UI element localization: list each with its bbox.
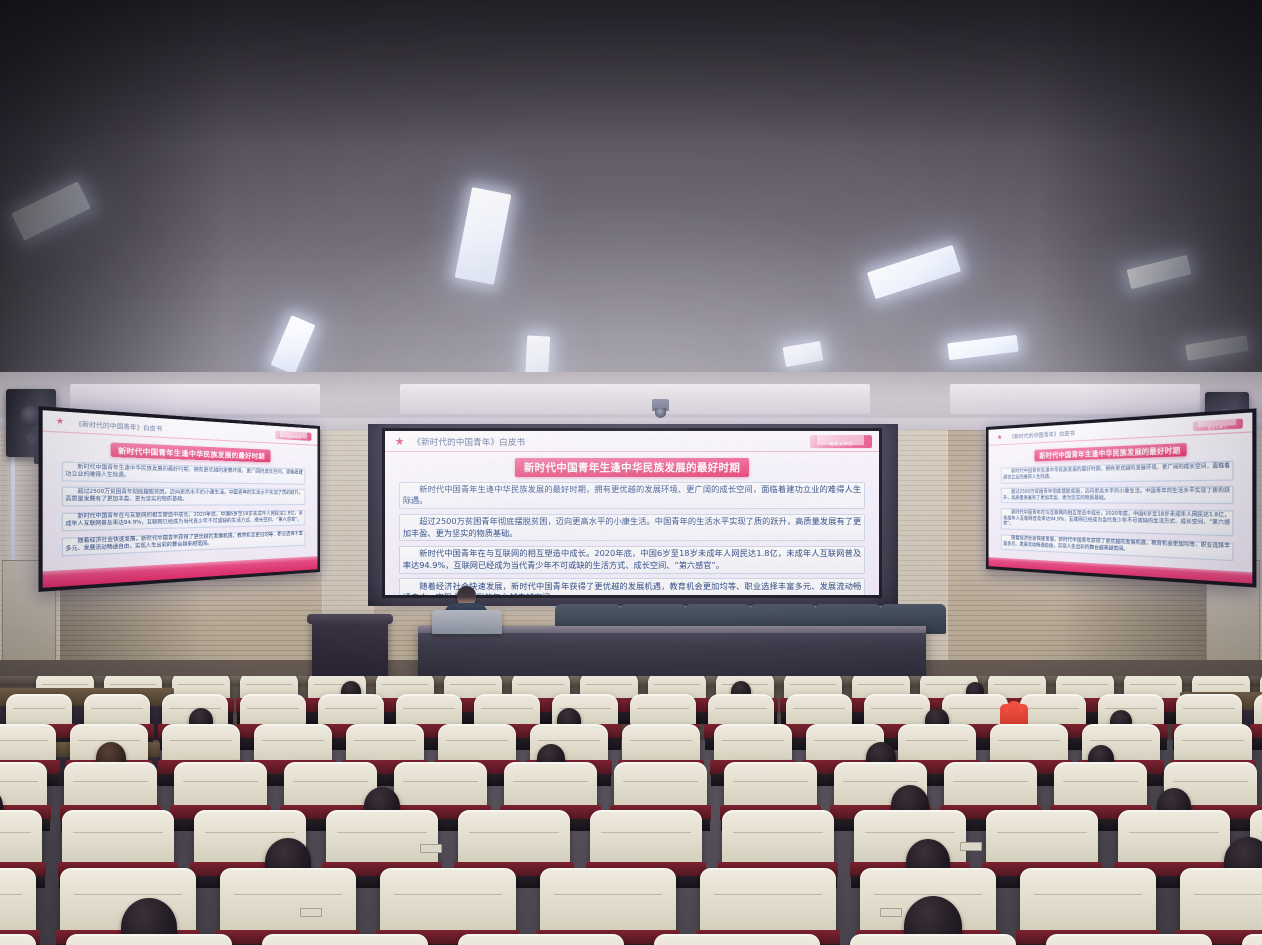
dome-camera-icon bbox=[652, 399, 669, 411]
audience-seating bbox=[0, 676, 1262, 945]
audience-seat[interactable] bbox=[590, 810, 702, 866]
soffit-recess-left bbox=[70, 384, 320, 414]
ceiling-panel-light bbox=[947, 335, 1019, 360]
slide-header-badge: 青年大学习 bbox=[1193, 418, 1243, 431]
audience-seat[interactable] bbox=[540, 868, 676, 934]
audience-seat[interactable] bbox=[614, 762, 707, 809]
speaker-tweeter-icon bbox=[26, 433, 37, 444]
soffit-recess-right bbox=[950, 384, 1200, 414]
ceiling-shading bbox=[0, 0, 1262, 430]
seat-number-plate bbox=[960, 842, 982, 851]
slide-header-badge: 青年大学习 bbox=[810, 435, 872, 448]
audience-seat[interactable] bbox=[346, 724, 424, 764]
audience-seat[interactable] bbox=[1176, 694, 1242, 728]
audience-seat[interactable] bbox=[622, 724, 700, 764]
screen-bezel: ★ 《新时代的中国青年》白皮书 青年大学习 新时代中国青年生逢中华民族发展的最好… bbox=[986, 408, 1256, 587]
audience-seat[interactable] bbox=[722, 810, 834, 866]
audience-seat[interactable] bbox=[458, 934, 624, 945]
ceiling-panel-light bbox=[1127, 255, 1192, 289]
audience-seat[interactable] bbox=[942, 694, 1008, 728]
audience-seat[interactable] bbox=[84, 694, 150, 728]
audience-seat[interactable] bbox=[714, 724, 792, 764]
slide-body: 新时代中国青年生逢中华民族发展的最好时期，拥有更优越的发展环境、更广阔的成长空间… bbox=[989, 461, 1253, 573]
lectern-top bbox=[307, 614, 393, 624]
audience-seat[interactable] bbox=[162, 724, 240, 764]
laptop bbox=[432, 610, 502, 634]
slide-paragraph: 超过2500万贫困青年彻底摆脱贫困，迈向更高水平的小康生活。中国青年的生活水平实… bbox=[62, 487, 305, 507]
audience-seat[interactable] bbox=[0, 934, 36, 945]
slide-header: ★ 《新时代的中国青年》白皮书 青年大学习 bbox=[385, 431, 879, 452]
seat-number-plate bbox=[880, 908, 902, 917]
audience-seat[interactable] bbox=[0, 724, 56, 764]
audience-seat[interactable] bbox=[1020, 868, 1156, 934]
audience-seat[interactable] bbox=[786, 694, 852, 728]
audience-seat[interactable] bbox=[1054, 762, 1147, 809]
audience-seat[interactable] bbox=[262, 934, 428, 945]
slide-title: 新时代中国青年生逢中华民族发展的最好时期 bbox=[515, 458, 749, 476]
presiding-table bbox=[418, 626, 926, 680]
slide-content: ★ 《新时代的中国青年》白皮书 青年大学习 新时代中国青年生逢中华民族发展的最好… bbox=[385, 431, 879, 595]
ceiling-panel-light bbox=[11, 181, 91, 240]
seat-number-plate bbox=[300, 908, 322, 917]
badge-label: 青年大学习 bbox=[287, 437, 301, 441]
left-projection-screen[interactable]: ★ 《新时代的中国青年》白皮书 青年大学习 新时代中国青年生逢中华民族发展的最好… bbox=[39, 406, 320, 592]
slide-header-badge: 青年大学习 bbox=[275, 431, 311, 441]
slide-title: 新时代中国青年生逢中华民族发展的最好时期 bbox=[1034, 444, 1187, 462]
audience-seat[interactable] bbox=[62, 810, 174, 866]
audience-seat[interactable] bbox=[0, 762, 47, 809]
audience-seat[interactable] bbox=[438, 724, 516, 764]
slide-content: ★ 《新时代的中国青年》白皮书 青年大学习 新时代中国青年生逢中华民族发展的最好… bbox=[43, 410, 318, 588]
audience-seat[interactable] bbox=[654, 934, 820, 945]
audience-seat[interactable] bbox=[1118, 810, 1230, 866]
audience-seat[interactable] bbox=[66, 934, 232, 945]
party-emblem-icon: ★ bbox=[997, 434, 1002, 441]
lectern[interactable] bbox=[312, 614, 388, 676]
audience-seat[interactable] bbox=[6, 694, 72, 728]
ceiling-panel-light bbox=[455, 187, 512, 285]
slide-paragraph: 随着经济社会快速发展，新时代中国青年获得了更优越的发展机遇，教育机会更加均等、职… bbox=[62, 530, 305, 557]
slide-title-row: 新时代中国青年生逢中华民族发展的最好时期 bbox=[385, 452, 879, 481]
audience-seat[interactable] bbox=[254, 724, 332, 764]
audience-seat[interactable] bbox=[944, 762, 1037, 809]
audience-seat[interactable] bbox=[284, 762, 377, 809]
seat-base bbox=[1251, 738, 1262, 750]
screen-bezel: ★ 《新时代的中国青年》白皮书 青年大学习 新时代中国青年生逢中华民族发展的最好… bbox=[382, 428, 882, 598]
audience-seat[interactable] bbox=[1020, 694, 1086, 728]
slide-title: 新时代中国青年生逢中华民族发展的最好时期 bbox=[111, 443, 270, 463]
slide-body: 新时代中国青年生逢中华民族发展的最好时期，拥有更优越的发展环境、更广阔的成长空间… bbox=[385, 482, 879, 595]
right-projection-screen[interactable]: ★ 《新时代的中国青年》白皮书 青年大学习 新时代中国青年生逢中华民族发展的最好… bbox=[986, 408, 1256, 587]
slide-body: 新时代中国青年生逢中华民族发展的最好时期，拥有更优越的发展环境、更广阔的成长空间… bbox=[43, 461, 318, 572]
audience-seat[interactable] bbox=[986, 810, 1098, 866]
soffit-recess-center bbox=[400, 384, 870, 414]
audience-seat[interactable] bbox=[850, 934, 1016, 945]
main-projection-screen[interactable]: ★ 《新时代的中国青年》白皮书 青年大学习 新时代中国青年生逢中华民族发展的最好… bbox=[382, 428, 882, 598]
slide-paragraph: 新时代中国青年生逢中华民族发展的最好时期，拥有更优越的发展环境、更广阔的成长空间… bbox=[399, 482, 864, 510]
audience-seat[interactable] bbox=[630, 694, 696, 728]
audience-seat[interactable] bbox=[898, 724, 976, 764]
ceiling-panel-light bbox=[270, 315, 315, 375]
audience-seat[interactable] bbox=[0, 810, 42, 866]
screen-bezel: ★ 《新时代的中国青年》白皮书 青年大学习 新时代中国青年生逢中华民族发展的最好… bbox=[39, 406, 320, 592]
audience-seat[interactable] bbox=[318, 694, 384, 728]
audience-seat[interactable] bbox=[380, 868, 516, 934]
slide-paragraph: 新时代中国青年在与互联网的相互塑造中成长。2020年底，中国6岁至18岁未成年人… bbox=[399, 546, 864, 574]
audience-seat[interactable] bbox=[1180, 868, 1262, 934]
slatted-ceiling bbox=[0, 0, 1262, 430]
audience-seat[interactable] bbox=[326, 810, 438, 866]
slide-paragraph: 随着经济社会快速发展，新时代中国青年获得了更优越的发展机遇，教育机会更加均等、职… bbox=[1001, 534, 1233, 561]
slide-paragraph: 新时代中国青年在与互联网的相互塑造中成长。2020年底，中国6岁至18岁未成年人… bbox=[1001, 508, 1233, 537]
audience-seat[interactable] bbox=[220, 868, 356, 934]
audience-seat[interactable] bbox=[864, 694, 930, 728]
slide-paragraph: 超过2500万贫困青年彻底摆脱贫困，迈向更高水平的小康生活。中国青年的生活水平实… bbox=[399, 514, 864, 542]
slide-content: ★ 《新时代的中国青年》白皮书 青年大学习 新时代中国青年生逢中华民族发展的最好… bbox=[989, 412, 1253, 583]
audience-seat[interactable] bbox=[1174, 724, 1252, 764]
slide-paragraph: 新时代中国青年在与互联网的相互塑造中成长。2020年底，中国6岁至18岁未成年人… bbox=[62, 510, 305, 532]
seat-number-plate bbox=[420, 844, 442, 853]
slide-header-title: 《新时代的中国青年》白皮书 bbox=[75, 418, 162, 433]
audience-seat[interactable] bbox=[1254, 694, 1262, 728]
ceiling-panel-light bbox=[1185, 335, 1249, 361]
audience-seat[interactable] bbox=[474, 694, 540, 728]
audience-seat[interactable] bbox=[700, 868, 836, 934]
audience-seat[interactable] bbox=[396, 694, 462, 728]
audience-seat[interactable] bbox=[240, 694, 306, 728]
party-emblem-icon: ★ bbox=[395, 436, 405, 447]
badge-label: 青年大学习 bbox=[1208, 425, 1227, 430]
slide-paragraph: 超过2500万贫困青年彻底摆脱贫困，迈向更高水平的小康生活。中国青年的生活水平实… bbox=[1001, 486, 1233, 505]
slide-header-title: 《新时代的中国青年》白皮书 bbox=[412, 436, 525, 448]
badge-label: 青年大学习 bbox=[829, 444, 852, 449]
audience-seat[interactable] bbox=[458, 810, 570, 866]
audience-seat[interactable] bbox=[394, 762, 487, 809]
ceiling-panel-light bbox=[867, 245, 961, 299]
audience-seat[interactable] bbox=[1046, 934, 1212, 945]
audience-seat[interactable] bbox=[724, 762, 817, 809]
slide-header-title: 《新时代的中国青年》白皮书 bbox=[1009, 429, 1075, 440]
audience-seat[interactable] bbox=[64, 762, 157, 809]
audience-seat[interactable] bbox=[504, 762, 597, 809]
audience-seat[interactable] bbox=[1242, 934, 1262, 945]
ceiling-panel-light bbox=[783, 341, 824, 367]
camera-lens-icon bbox=[655, 408, 666, 418]
audience-seat[interactable] bbox=[990, 724, 1068, 764]
audience-seat[interactable] bbox=[174, 762, 267, 809]
audience-seat[interactable] bbox=[708, 694, 774, 728]
audience-seat[interactable] bbox=[0, 868, 36, 934]
backpack-strap bbox=[1005, 701, 1023, 713]
auditorium-photo: ★ 《新时代的中国青年》白皮书 青年大学习 新时代中国青年生逢中华民族发展的最好… bbox=[0, 0, 1262, 945]
party-emblem-icon: ★ bbox=[56, 418, 64, 427]
